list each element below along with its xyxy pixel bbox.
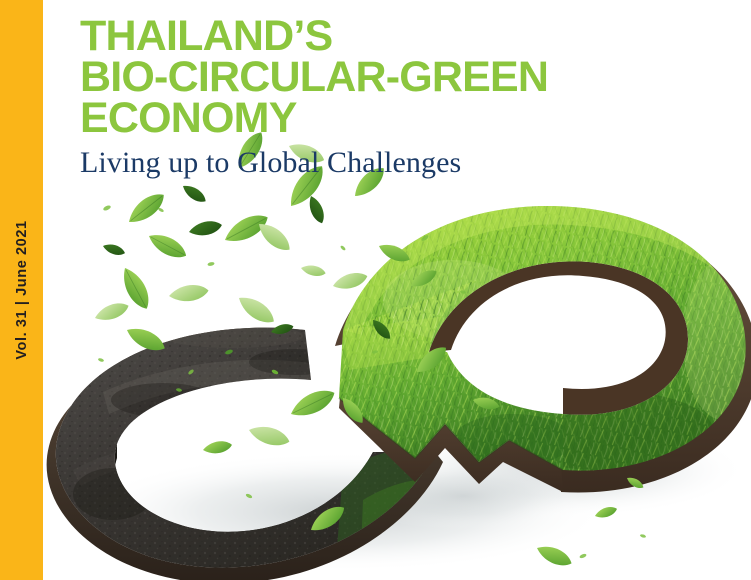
leaf [102,242,127,258]
leaf [247,422,292,449]
headline-line-2: BIO-CIRCULAR-GREEN [80,57,710,98]
leaf [188,219,224,239]
issue-spine: Vol. 31 | June 2021 [0,0,43,580]
headline-line-1: THAILAND’S [80,16,710,57]
leaf [234,291,278,328]
leaf [145,229,190,263]
magazine-cover: Vol. 31 | June 2021 THAILAND’S BIO-CIRCU… [0,0,751,580]
leaf [93,299,131,324]
leaf [168,283,210,304]
leaf [202,439,233,456]
cover-headline-block: THAILAND’S BIO-CIRCULAR-GREEN ECONOMY Li… [80,16,710,182]
leaf [306,194,328,226]
leaf [180,182,209,206]
grass-loop-arrow [323,190,751,493]
leaf [300,263,327,278]
cover-subtitle: Living up to Global Challenges [80,144,710,182]
leaf [287,384,339,422]
headline-line-3: ECONOMY [80,98,710,139]
spine-issue-label: Vol. 31 | June 2021 [14,220,30,359]
leaf [124,188,169,229]
